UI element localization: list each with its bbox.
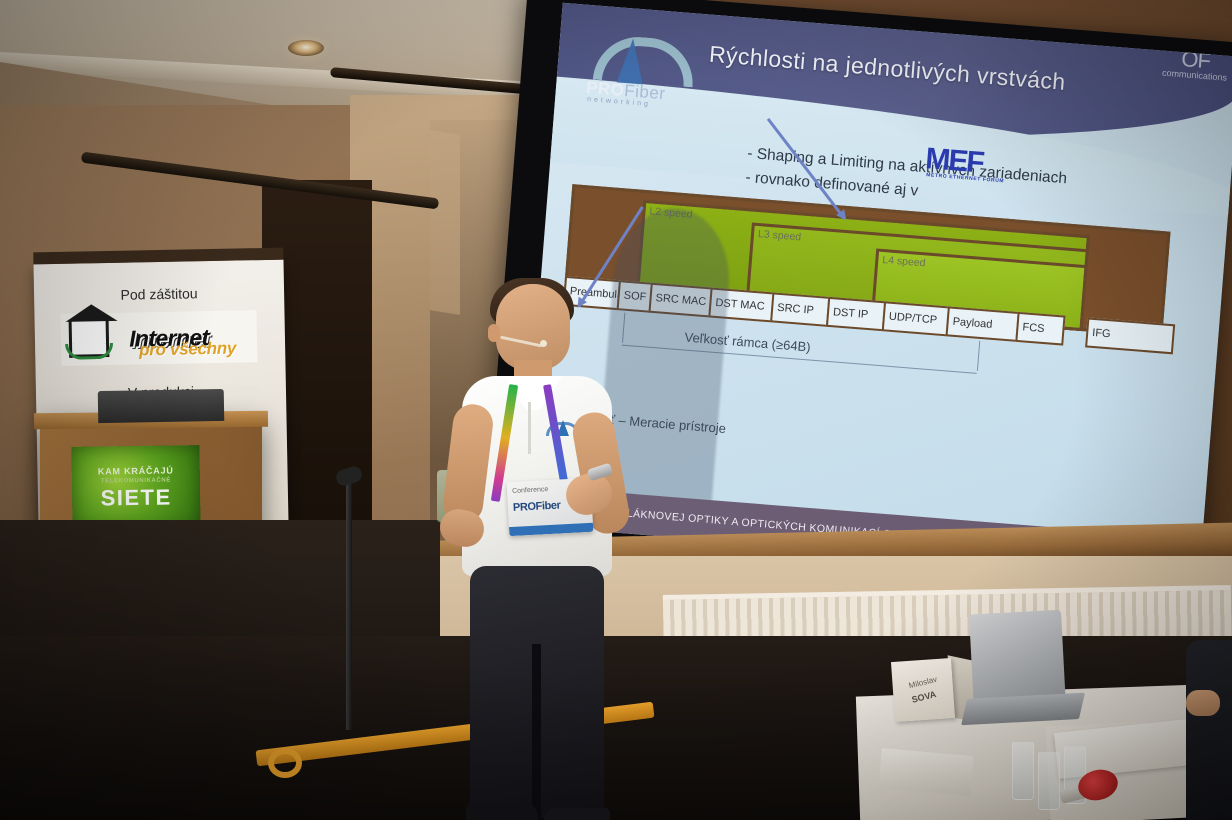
headset-microphone-tip xyxy=(540,340,547,347)
internet-pro-vsechny-logo: Internet pro všechny xyxy=(60,310,257,366)
badge-line-1: Conference xyxy=(512,486,549,495)
profiber-logo: PROFiber networking xyxy=(581,31,707,116)
cable-coil xyxy=(268,748,302,778)
l3-speed-label: L3 speed xyxy=(758,228,802,243)
lectern-sign-line-1: KAM KRÁČAJÚ xyxy=(98,465,174,476)
seated-person-right xyxy=(1186,640,1232,820)
field-ifg: IFG xyxy=(1085,317,1175,354)
field-fcs: FCS xyxy=(1015,312,1065,346)
presenter-shoe-left xyxy=(466,804,538,820)
dimension-cap-right xyxy=(977,341,980,371)
banner-line-1: Pod záštitou xyxy=(34,284,284,305)
badge-line-2: PROFiber xyxy=(513,499,561,513)
lectern-sign-line-3: SIETE xyxy=(100,484,171,511)
papers-stack-secondary xyxy=(878,748,973,796)
laptop-keyboard-base xyxy=(961,693,1085,726)
presenter-ear xyxy=(488,324,500,342)
drinking-glass xyxy=(1038,752,1060,810)
laptop-lid xyxy=(969,610,1065,703)
presenter-placket xyxy=(528,402,531,454)
name-card-last-name: SOVA xyxy=(910,689,937,705)
laptop xyxy=(965,609,1077,730)
presenter: Conference PROFiber xyxy=(440,284,660,820)
swoosh-icon xyxy=(65,343,113,360)
lectern-sign: KAM KRÁČAJÚ TELEKOMUNIKAČNÉ SIETE xyxy=(71,445,200,531)
name-card-first-name: Miloslav xyxy=(907,675,937,691)
trouser-leg-gap xyxy=(532,644,541,820)
presenter-shoe-right xyxy=(544,808,610,820)
presenter-head xyxy=(496,284,570,370)
lectern-sign-line-2: TELEKOMUNIKAČNÉ xyxy=(101,477,171,484)
blade-icon xyxy=(617,37,646,84)
partner-logo-corner: OF communications xyxy=(1162,47,1229,83)
name-card: Miloslav SOVA xyxy=(891,658,955,722)
sponsor-word-2: pro všechny xyxy=(139,339,236,361)
field-payload: Payload xyxy=(946,306,1020,342)
seated-person-hand xyxy=(1186,690,1220,716)
field-dst-ip: DST IP xyxy=(826,297,886,332)
l4-speed-label: L4 speed xyxy=(882,254,926,269)
photo-scene: PROFiber networking Rýchlosti na jednotl… xyxy=(0,0,1232,820)
field-udp-tcp: UDP/TCP xyxy=(882,301,950,336)
field-src-ip: SRC IP xyxy=(770,292,830,327)
lectern-laptop xyxy=(98,389,225,423)
ceiling-spotlight xyxy=(288,40,324,56)
drinking-glass xyxy=(1012,742,1034,800)
microphone-stand xyxy=(346,480,352,730)
